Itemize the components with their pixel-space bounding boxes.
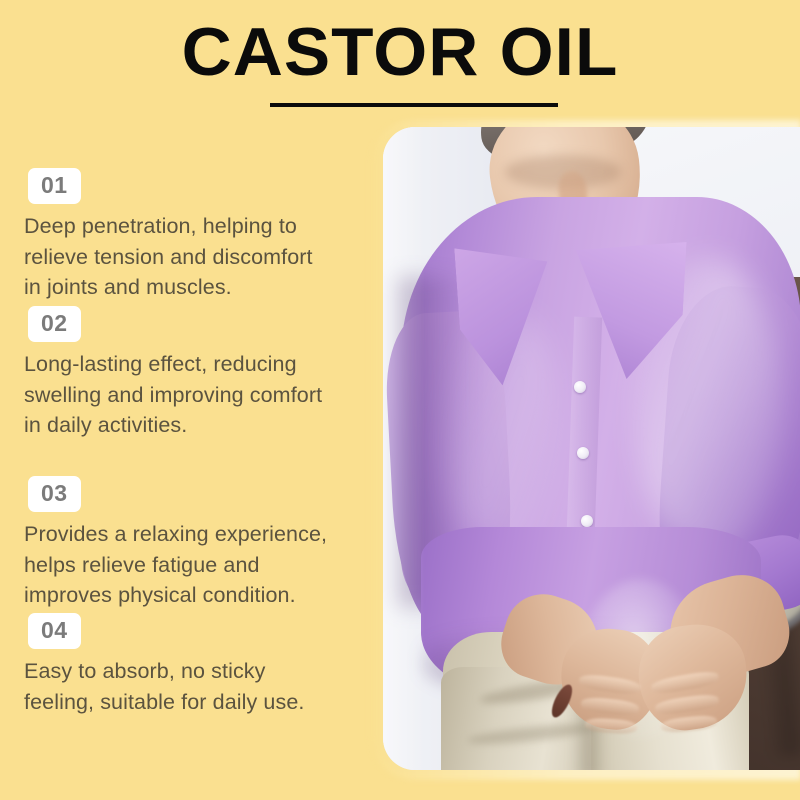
- shirt-button: [581, 515, 593, 527]
- poster-canvas: CASTOR OIL 01 Deep penetration, helping …: [0, 0, 800, 800]
- shirt-button: [577, 447, 589, 459]
- status-badge: 04: [28, 613, 81, 649]
- title-underline-divider: [270, 103, 558, 107]
- photo-backdrop: [383, 127, 800, 770]
- list-item: 02 Long-lasting effect, reducing swellin…: [0, 306, 372, 441]
- status-badge: 02: [28, 306, 81, 342]
- list-item: 03 Provides a relaxing experience, helps…: [0, 476, 372, 611]
- feature-description: Deep penetration, helping to relieve ten…: [24, 211, 364, 303]
- hero-photo: [383, 127, 800, 770]
- status-badge: 03: [28, 476, 81, 512]
- status-badge: 01: [28, 168, 81, 204]
- page-title: CASTOR OIL: [0, 18, 800, 86]
- title-block: CASTOR OIL: [0, 18, 800, 107]
- person-figure: [383, 127, 800, 770]
- feature-description: Easy to absorb, no sticky feeling, suita…: [24, 656, 364, 717]
- list-item: 01 Deep penetration, helping to relieve …: [0, 168, 372, 303]
- feature-description: Long-lasting effect, reducing swelling a…: [24, 349, 364, 441]
- list-item: 04 Easy to absorb, no sticky feeling, su…: [0, 613, 372, 717]
- shirt-button: [574, 381, 586, 393]
- feature-description: Provides a relaxing experience, helps re…: [24, 519, 364, 611]
